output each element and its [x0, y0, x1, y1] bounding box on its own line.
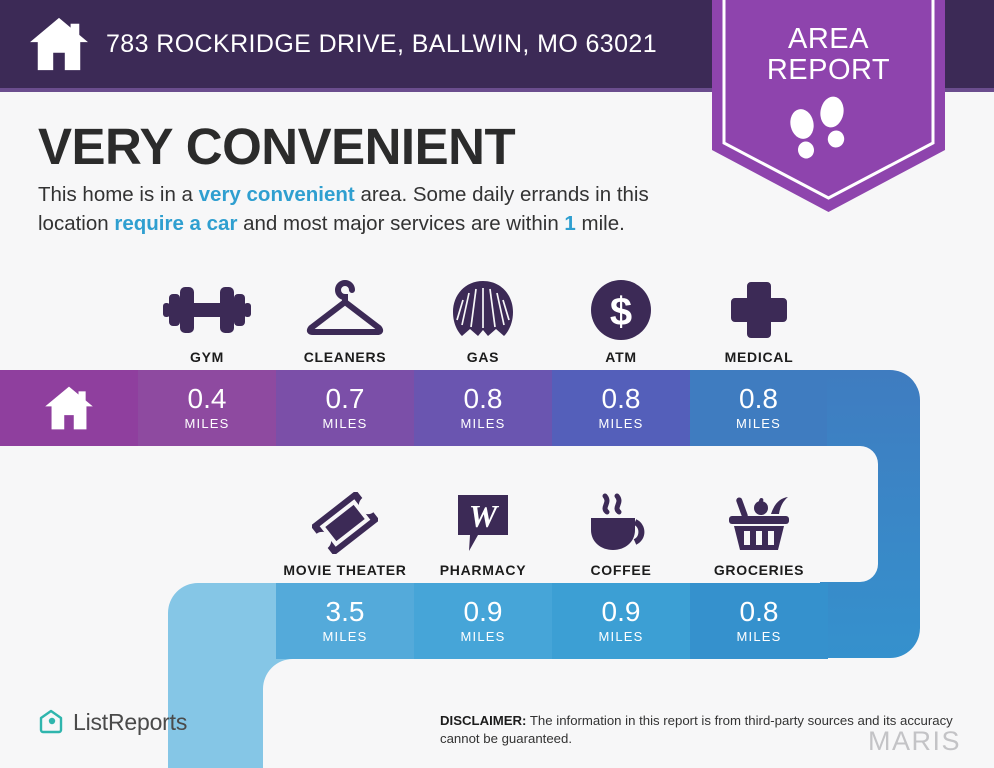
badge-line-2: REPORT: [712, 55, 945, 86]
amenity-label: ATM: [605, 349, 636, 365]
page-title: VERY CONVENIENT: [38, 117, 515, 176]
subtitle-highlight-2: require a car: [114, 212, 237, 235]
badge-line-1: AREA: [712, 24, 945, 55]
distance-bar-row-2: 3.5 MILES 0.9 MILES 0.9 MILES 0.8 MILES: [276, 583, 828, 659]
distance-segment: 0.8 MILES: [690, 370, 827, 446]
dumbbell-icon: [138, 277, 276, 343]
ticket-icon: [276, 490, 414, 556]
disclaimer-label: DISCLAIMER:: [440, 713, 526, 728]
svg-text:$: $: [610, 290, 632, 334]
distance-unit: MILES: [736, 416, 781, 431]
subtitle-part-3: and most major services are within: [237, 212, 564, 235]
amenity-pharmacy: W PHARMACY: [414, 478, 552, 578]
listreports-logo-icon: [38, 708, 64, 736]
distance-value: 0.8: [602, 385, 641, 413]
amenity-label: GAS: [467, 349, 499, 365]
distance-unit: MILES: [736, 629, 781, 644]
listreports-logo[interactable]: ListReports: [38, 708, 187, 736]
distance-unit: MILES: [598, 629, 643, 644]
amenity-atm: $ ATM: [552, 265, 690, 365]
amenity-label: MOVIE THEATER: [283, 562, 406, 578]
distance-unit: MILES: [460, 416, 505, 431]
badge-title: AREA REPORT: [712, 24, 945, 85]
subtitle-part-4: mile.: [576, 212, 625, 235]
distance-segment: 0.7 MILES: [276, 370, 414, 446]
area-report-badge: AREA REPORT: [712, 0, 945, 212]
distance-value: 0.9: [464, 598, 503, 626]
distance-segment: 0.9 MILES: [414, 583, 552, 659]
page-subtitle: This home is in a very convenient area. …: [38, 180, 703, 238]
distance-segment: 0.8 MILES: [552, 370, 690, 446]
area-report-page: 783 ROCKRIDGE DRIVE, BALLWIN, MO 63021 A…: [0, 0, 994, 768]
subtitle-part-1: This home is in a: [38, 183, 199, 206]
distance-segment: 3.5 MILES: [276, 583, 414, 659]
amenity-label: PHARMACY: [440, 562, 527, 578]
maris-watermark: MARIS: [868, 726, 961, 757]
distance-unit: MILES: [184, 416, 229, 431]
amenity-label: CLEANERS: [304, 349, 387, 365]
coffee-cup-icon: [552, 490, 690, 556]
subtitle-highlight-1: very convenient: [199, 183, 355, 206]
distance-value: 0.8: [740, 598, 779, 626]
amenity-cleaners: CLEANERS: [276, 265, 414, 365]
amenity-icon-row-2: MOVIE THEATER W PHARMACY COFFEE: [276, 478, 828, 578]
distance-value: 3.5: [326, 598, 365, 626]
walgreens-w-icon: W: [414, 490, 552, 556]
distance-value: 0.9: [602, 598, 641, 626]
amenity-label: COFFEE: [591, 562, 652, 578]
amenity-medical: MEDICAL: [690, 265, 828, 365]
grocery-basket-icon: [690, 490, 828, 556]
hanger-icon: [276, 277, 414, 343]
home-icon: [42, 385, 96, 431]
listreports-logo-text: ListReports: [73, 709, 187, 736]
distance-segment: 0.8 MILES: [690, 583, 828, 659]
distance-segment: 0.9 MILES: [552, 583, 690, 659]
subtitle-highlight-3: 1: [564, 212, 575, 235]
amenity-label: GROCERIES: [714, 562, 804, 578]
home-icon: [28, 16, 90, 72]
distance-segment: 0.8 MILES: [414, 370, 552, 446]
amenity-coffee: COFFEE: [552, 478, 690, 578]
amenity-gym: GYM: [138, 265, 276, 365]
distance-value: 0.4: [188, 385, 227, 413]
distance-unit: MILES: [460, 629, 505, 644]
medical-cross-icon: [690, 277, 828, 343]
distance-value: 0.7: [326, 385, 365, 413]
amenity-groceries: GROCERIES: [690, 478, 828, 578]
amenity-movie-theater: MOVIE THEATER: [276, 478, 414, 578]
distance-value: 0.8: [739, 385, 778, 413]
amenity-icon-row-1: GYM CLEANERS: [138, 265, 965, 365]
distance-unit: MILES: [322, 629, 367, 644]
dollar-circle-icon: $: [552, 277, 690, 343]
distance-unit: MILES: [598, 416, 643, 431]
distance-value: 0.8: [464, 385, 503, 413]
svg-text:W: W: [469, 498, 500, 534]
distance-unit: MILES: [322, 416, 367, 431]
distance-bar-row-1: 0.4 MILES 0.7 MILES 0.8 MILES 0.8 MILES …: [0, 370, 827, 446]
home-segment: [0, 370, 138, 446]
property-address: 783 ROCKRIDGE DRIVE, BALLWIN, MO 63021: [106, 30, 657, 59]
bar-connector-right: [820, 370, 925, 658]
amenity-label: MEDICAL: [725, 349, 794, 365]
amenity-gas: GAS: [414, 265, 552, 365]
amenity-label: GYM: [190, 349, 224, 365]
distance-segment: 0.4 MILES: [138, 370, 276, 446]
shell-icon: [414, 277, 552, 343]
